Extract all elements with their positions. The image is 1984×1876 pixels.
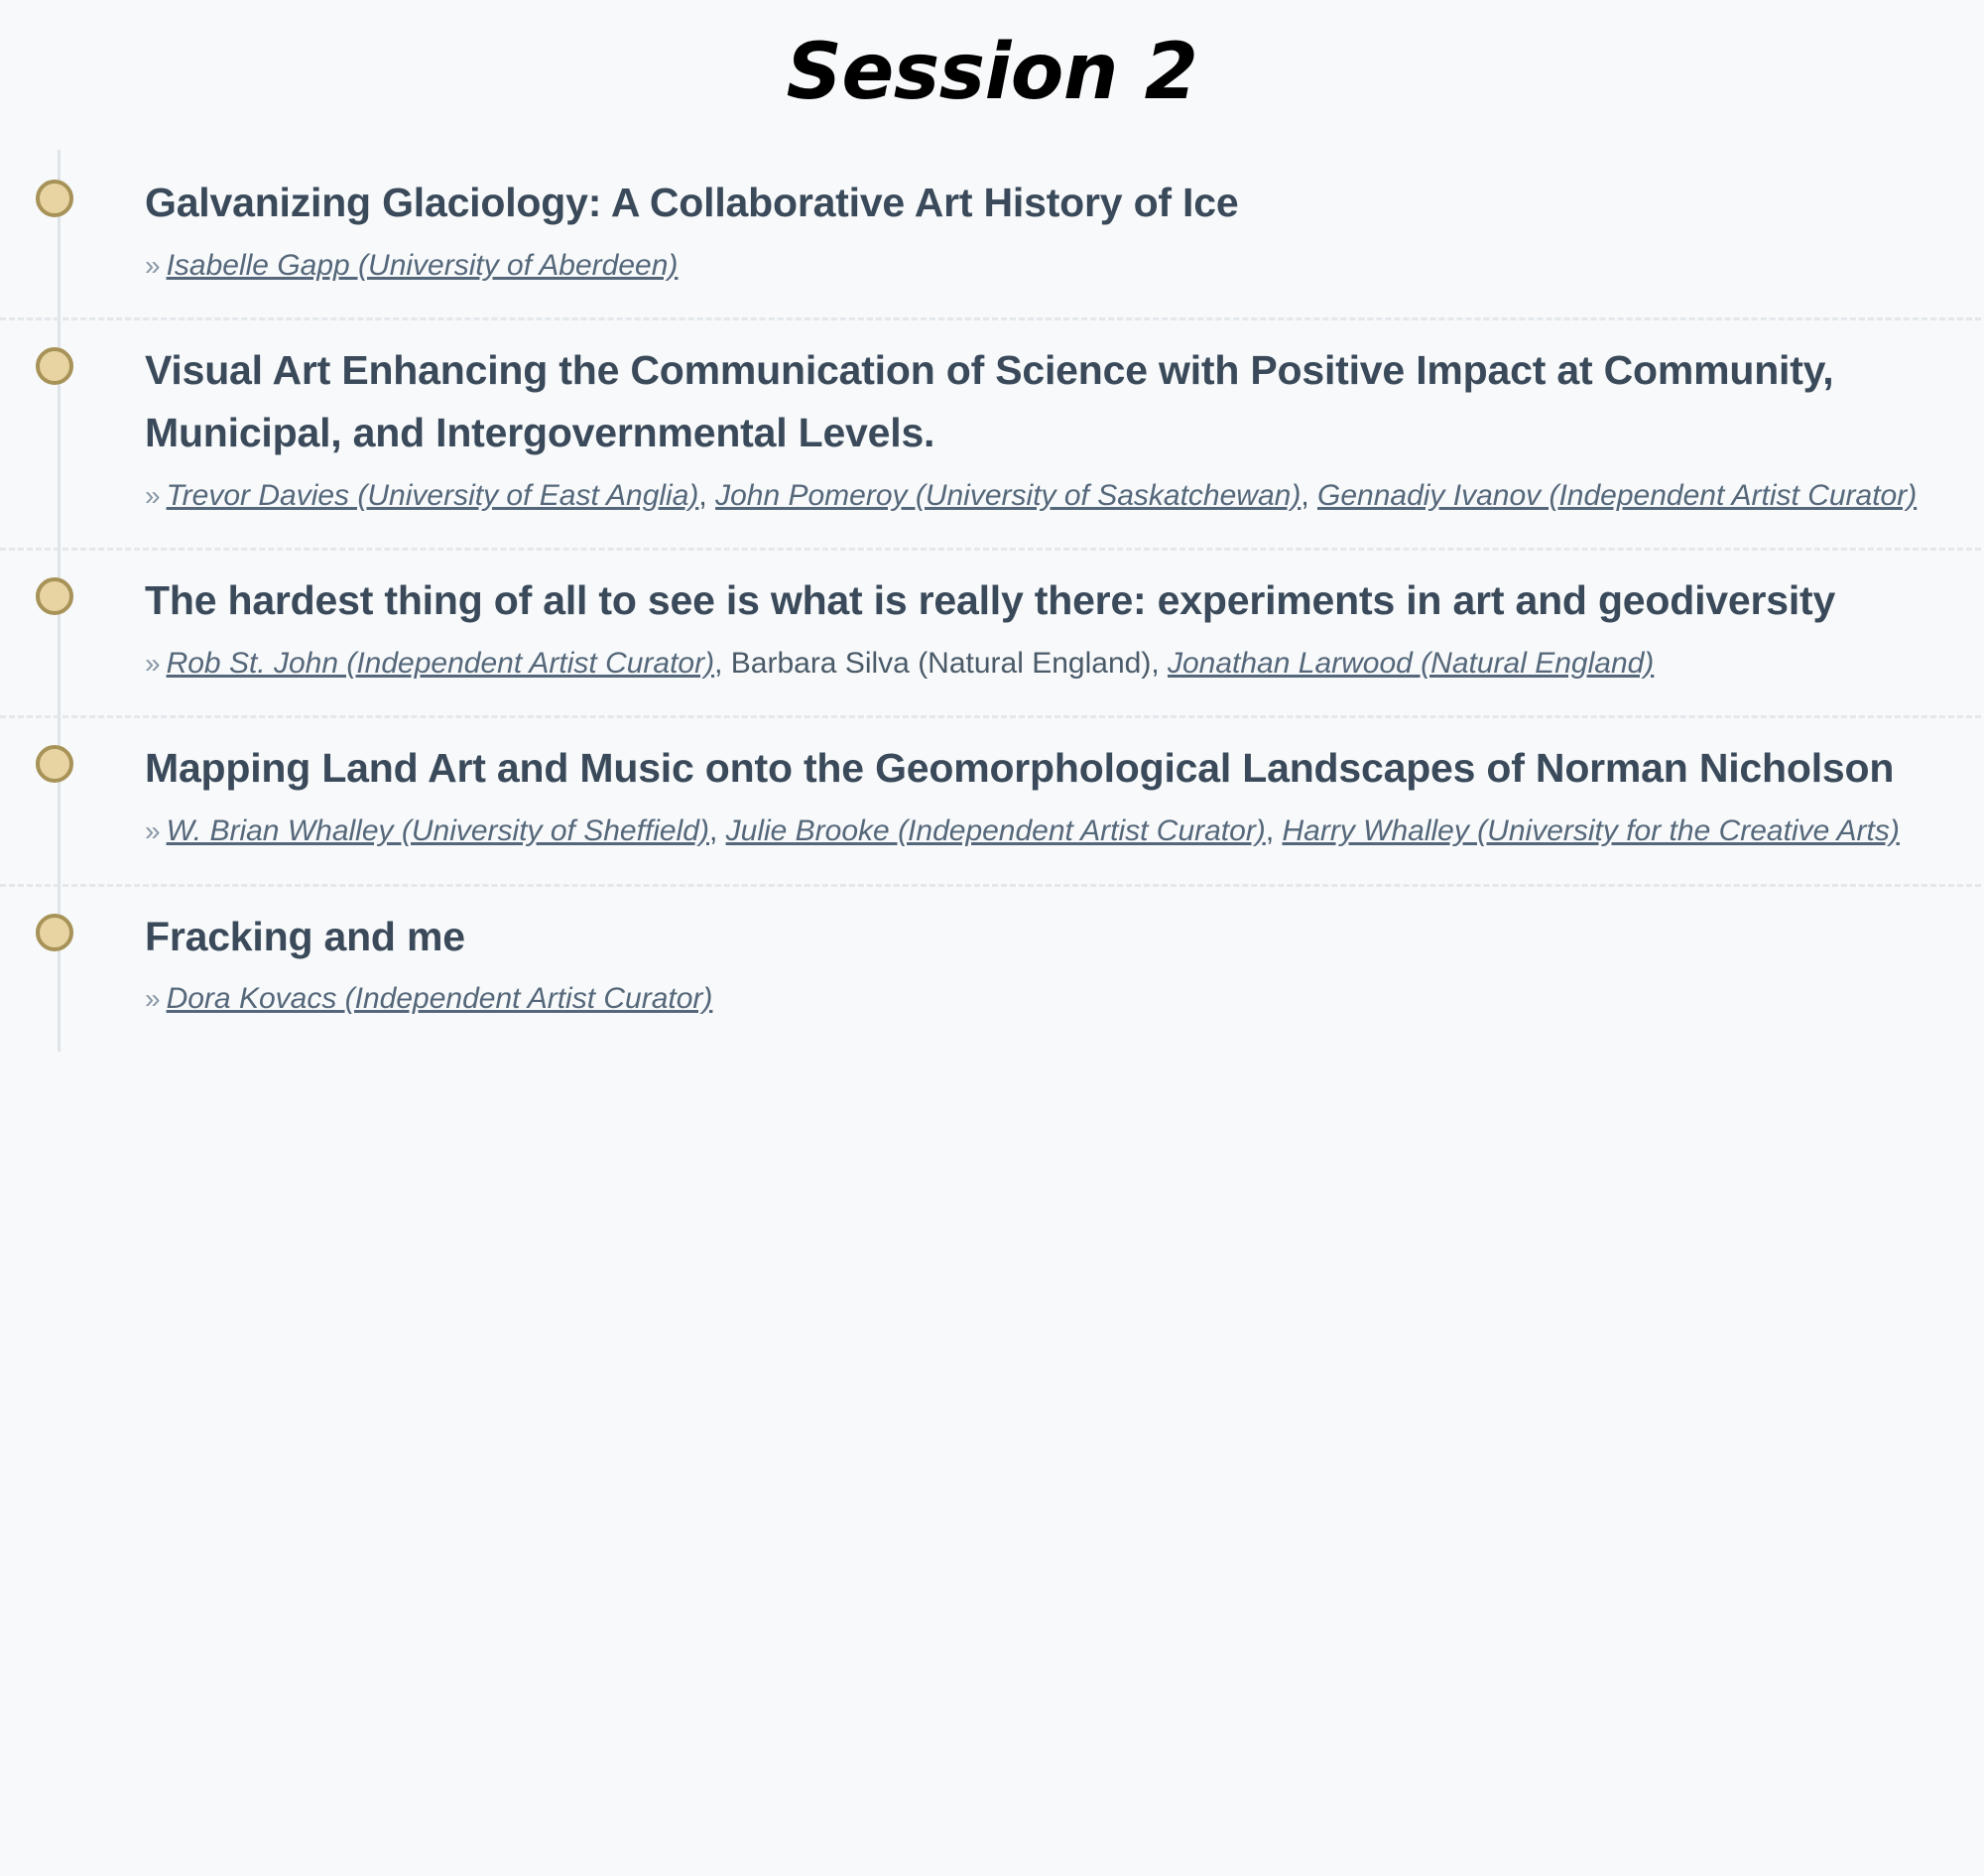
author-separator: , bbox=[709, 814, 726, 847]
talk-title: Fracking and me bbox=[145, 906, 1960, 968]
timeline-bullet-icon bbox=[36, 577, 73, 615]
author-link[interactable]: W. Brian Whalley (University of Sheffiel… bbox=[167, 814, 709, 847]
guillemet-icon: » bbox=[145, 648, 161, 679]
author-link[interactable]: Dora Kovacs (Independent Artist Curator) bbox=[167, 982, 713, 1015]
timeline-entry: Fracking and me»Dora Kovacs (Independent… bbox=[0, 884, 1984, 1052]
session-timeline-list: Galvanizing Glaciology: A Collaborative … bbox=[0, 150, 1984, 1051]
author-link[interactable]: Isabelle Gapp (University of Aberdeen) bbox=[167, 249, 679, 282]
author-link[interactable]: Jonathan Larwood (Natural England) bbox=[1168, 647, 1654, 680]
author-separator: , bbox=[1266, 814, 1283, 847]
timeline-entry-body: Mapping Land Art and Music onto the Geom… bbox=[0, 715, 1984, 883]
author-link[interactable]: Trevor Davies (University of East Anglia… bbox=[167, 479, 699, 512]
timeline-bullet-icon bbox=[36, 347, 73, 385]
guillemet-icon: » bbox=[145, 250, 161, 281]
timeline-bullet-icon bbox=[36, 180, 73, 217]
author-separator: , bbox=[714, 647, 731, 680]
guillemet-icon: » bbox=[145, 480, 161, 511]
timeline-entry-body: Galvanizing Glaciology: A Collaborative … bbox=[0, 150, 1984, 317]
talk-authors: »Dora Kovacs (Independent Artist Curator… bbox=[145, 977, 1960, 1021]
talk-authors: »Isabelle Gapp (University of Aberdeen) bbox=[145, 244, 1960, 288]
timeline-entry: Visual Art Enhancing the Communication o… bbox=[0, 317, 1984, 548]
guillemet-icon: » bbox=[145, 815, 161, 846]
timeline-bullet-icon bbox=[36, 914, 73, 951]
talk-authors: »Trevor Davies (University of East Angli… bbox=[145, 474, 1960, 518]
timeline-entry-body: Fracking and me»Dora Kovacs (Independent… bbox=[0, 884, 1984, 1052]
talk-title: Galvanizing Glaciology: A Collaborative … bbox=[145, 172, 1960, 234]
author-separator: , bbox=[698, 479, 715, 512]
talk-title: The hardest thing of all to see is what … bbox=[145, 569, 1960, 632]
timeline-bullet-icon bbox=[36, 745, 73, 783]
author-link[interactable]: Harry Whalley (University for the Creati… bbox=[1282, 814, 1899, 847]
talk-authors: »Rob St. John (Independent Artist Curato… bbox=[145, 642, 1960, 686]
timeline-entry-body: The hardest thing of all to see is what … bbox=[0, 548, 1984, 715]
talk-title: Mapping Land Art and Music onto the Geom… bbox=[145, 737, 1960, 800]
talk-title: Visual Art Enhancing the Communication o… bbox=[145, 339, 1960, 463]
author-link[interactable]: Rob St. John (Independent Artist Curator… bbox=[167, 647, 715, 680]
session-page: Session 2 Galvanizing Glaciology: A Coll… bbox=[0, 0, 1984, 1052]
author-link[interactable]: Gennadiy Ivanov (Independent Artist Cura… bbox=[1317, 479, 1917, 512]
timeline-entry-body: Visual Art Enhancing the Communication o… bbox=[0, 317, 1984, 548]
timeline-entry: Galvanizing Glaciology: A Collaborative … bbox=[0, 150, 1984, 317]
author-separator: , bbox=[1151, 647, 1168, 680]
timeline-entry: The hardest thing of all to see is what … bbox=[0, 548, 1984, 715]
page-title: Session 2 bbox=[0, 0, 1984, 150]
author-link[interactable]: Julie Brooke (Independent Artist Curator… bbox=[726, 814, 1266, 847]
talk-authors: »W. Brian Whalley (University of Sheffie… bbox=[145, 810, 1960, 853]
author-link[interactable]: John Pomeroy (University of Saskatchewan… bbox=[715, 479, 1301, 512]
author-name: Barbara Silva (Natural England) bbox=[731, 647, 1152, 680]
author-separator: , bbox=[1301, 479, 1317, 512]
guillemet-icon: » bbox=[145, 983, 161, 1014]
timeline-entry: Mapping Land Art and Music onto the Geom… bbox=[0, 715, 1984, 883]
